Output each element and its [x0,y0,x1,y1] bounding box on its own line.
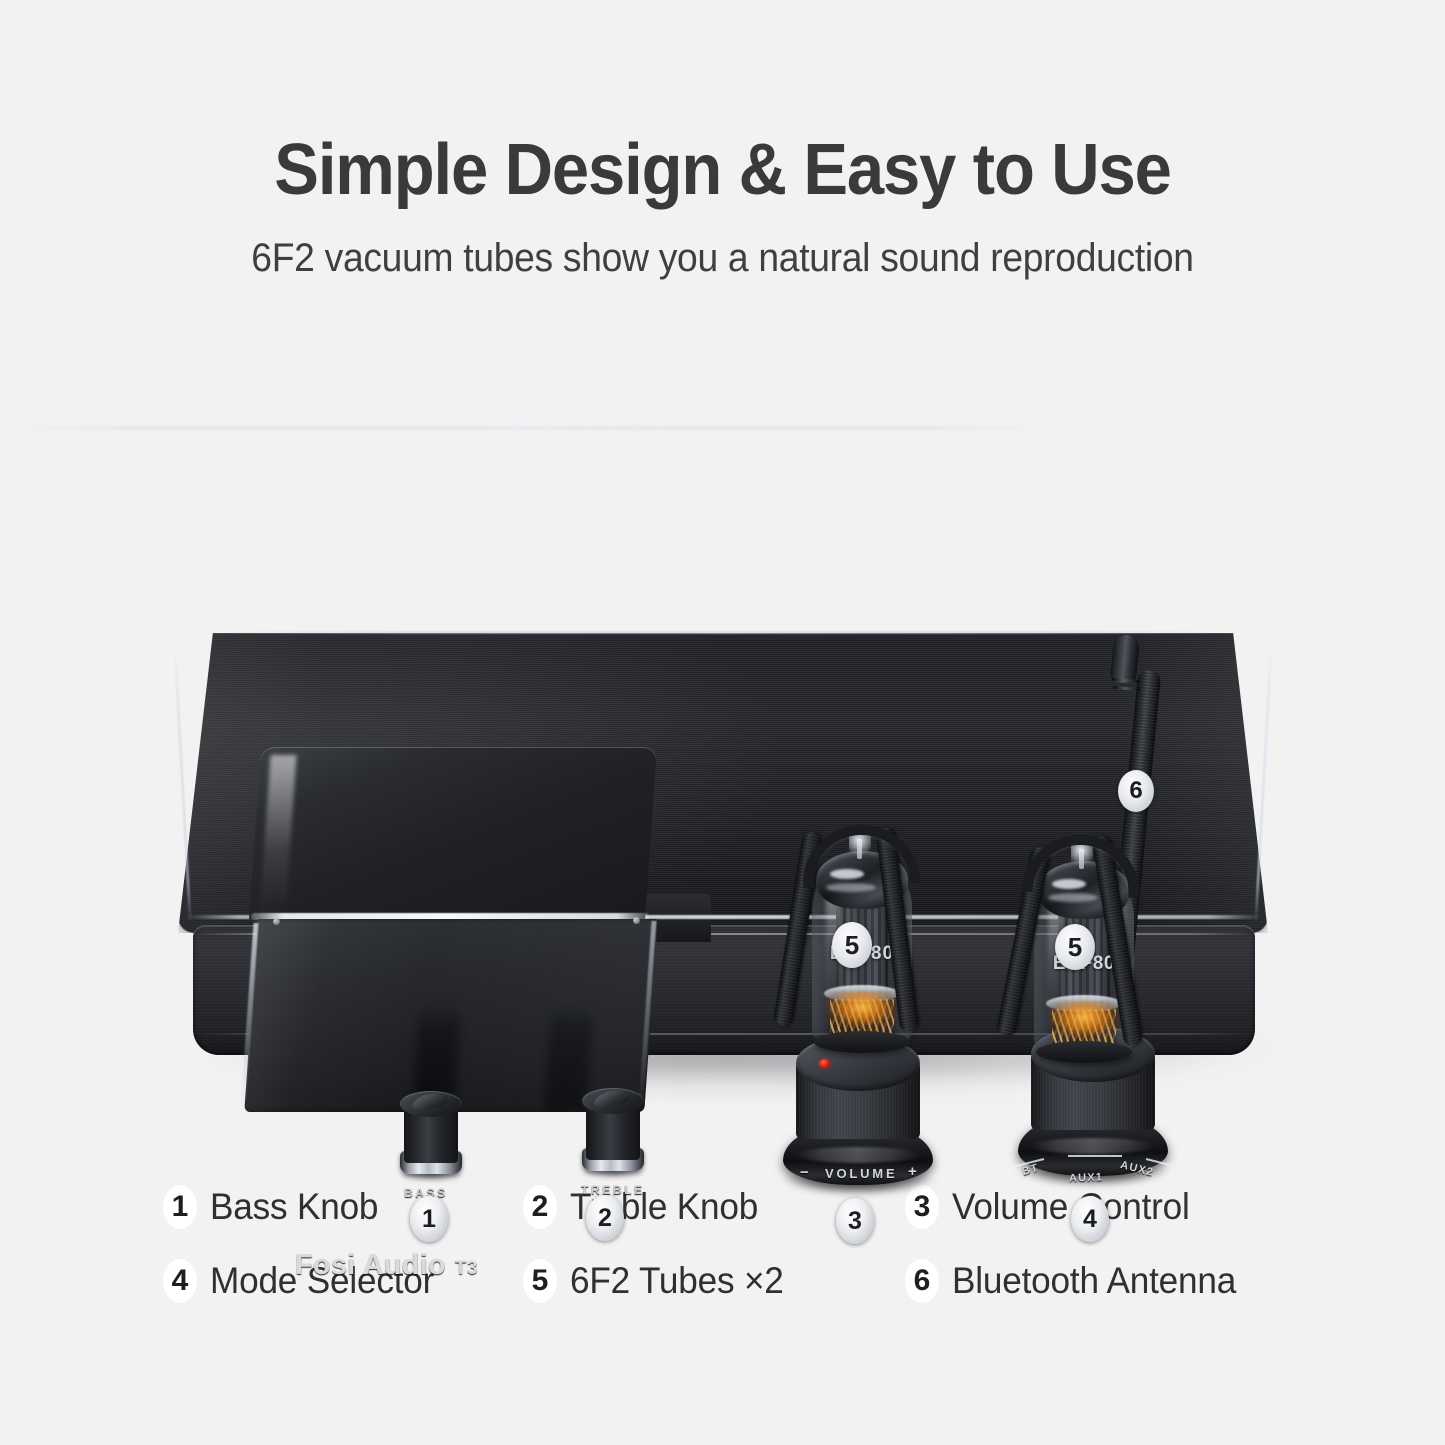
knob-base-highlight [795,1147,921,1163]
brand-name: Fosi Audio [295,1249,446,1281]
callout-badge-5-right: 5 [1055,924,1095,970]
volume-minus-label: − [800,1164,809,1181]
brand-logo: Fosi AudioT3 [295,1249,478,1282]
indicator-led-icon [819,1059,830,1068]
transformer-cover [233,747,651,1112]
callout-badge-5-left: 5 [832,922,872,968]
page-title: Simple Design & Easy to Use [51,134,1395,206]
tube-socket [1036,1041,1132,1063]
legend-item-5: 5 6F2 Tubes ×2 [523,1259,905,1303]
legend-item-1: 1 Bass Knob [163,1185,523,1229]
callout-badge-3: 3 [836,1198,874,1244]
volume-plus-label: + [908,1163,917,1180]
callout-badge-1: 1 [410,1196,448,1242]
callout-badge-2: 2 [586,1195,624,1241]
tube-retainer-arch [1022,832,1141,898]
tube-socket [814,1031,910,1053]
bass-knob[interactable] [396,1091,466,1183]
mode-aux1-label: AUX1 [1069,1171,1104,1184]
legend-label-6: Bluetooth Antenna [952,1260,1236,1302]
top-plate-left-rim [173,645,192,923]
front-bottom-highlight [20,426,1042,430]
legend-grid: 1 Bass Knob 2 Treble Knob 3 Volume Contr… [163,1185,1343,1303]
screw-icon [273,918,280,925]
screw-icon [633,917,640,924]
legend-label-1: Bass Knob [210,1186,378,1228]
legend-number-2: 2 [523,1185,557,1229]
transformer-front-face [244,919,657,1112]
top-plate-right-rim [1254,645,1273,923]
legend-number-6: 6 [905,1259,939,1303]
page-subtitle: 6F2 vacuum tubes show you a natural soun… [51,236,1395,281]
legend-label-5: 6F2 Tubes ×2 [570,1260,784,1302]
volume-label: VOLUME [825,1166,897,1181]
brand-model: T3 [455,1258,478,1279]
callout-badge-4: 4 [1071,1196,1109,1242]
product-photo: ECF80 ECF80 [0,300,1445,1130]
top-plate-back-edge [218,631,1230,634]
legend-number-4: 4 [163,1259,197,1303]
transformer-front-sheen [244,919,657,1112]
tube-retainer-arch [800,822,919,888]
treble-label: TREBLE [581,1183,645,1197]
header-block: Simple Design & Easy to Use 6F2 vacuum t… [0,0,1445,281]
legend-number-5: 5 [523,1259,557,1303]
callout-badge-6: 6 [1118,770,1154,812]
legend-number-1: 1 [163,1185,197,1229]
transformer-top-face [249,747,657,920]
treble-knob[interactable] [578,1088,648,1180]
legend-item-6: 6 Bluetooth Antenna [905,1259,1343,1303]
antenna-tip [1110,634,1140,684]
